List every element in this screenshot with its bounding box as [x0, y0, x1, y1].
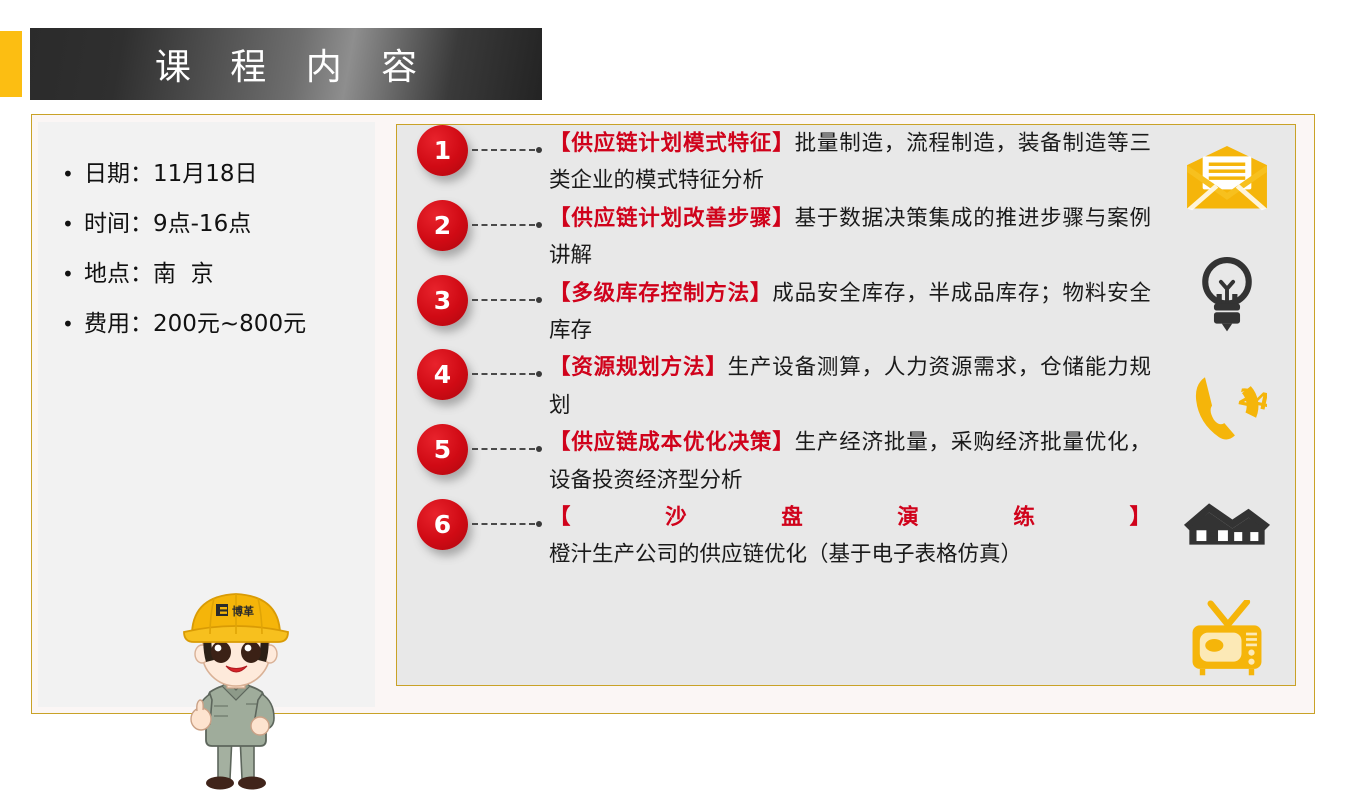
- outline-item-title: 【多级库存控制方法】: [549, 281, 772, 306]
- outline-item-body: 橙汁生产公司的供应链优化（基于电子表格仿真）: [549, 542, 1022, 567]
- outline-item-text: 【沙盘演练】橙汁生产公司的供应链优化（基于电子表格仿真）: [549, 499, 1157, 574]
- connector-line: [472, 148, 542, 152]
- outline-item: 2【供应链计划改善步骤】基于数据决策集成的推进步骤与案例讲解: [397, 200, 1157, 275]
- course-info-text: 费用：200元~800元: [84, 304, 306, 338]
- outline-item-number: 1: [417, 125, 468, 176]
- course-info-text: 地点：南 京: [84, 254, 214, 288]
- house-icon: [1181, 484, 1273, 564]
- lightbulb-icon: [1181, 254, 1273, 334]
- worker-mascot: 博革: [170, 574, 300, 799]
- bullet-icon: •: [62, 264, 84, 284]
- connector-line: [472, 223, 542, 227]
- course-info-text: 时间：9点-16点: [84, 204, 251, 238]
- connector-line: [472, 372, 542, 376]
- phone-24-icon: 24: [1181, 369, 1273, 449]
- connector-line: [472, 447, 542, 451]
- envelope-icon: [1181, 139, 1273, 219]
- course-info-text: 日期：11月18日: [84, 154, 258, 188]
- outline-item-number: 4: [417, 349, 468, 400]
- outline-item-text: 【多级库存控制方法】成品安全库存，半成品库存；物料安全库存: [549, 275, 1157, 350]
- outline-item-title: 【资源规划方法】: [549, 355, 728, 380]
- course-info-item: •日期：11月18日: [62, 154, 362, 188]
- outline-item-title: 【供应链成本优化决策】: [549, 430, 795, 455]
- outline-item-number: 6: [417, 499, 468, 550]
- icon-column: 24: [1167, 139, 1287, 679]
- outline-item: 4【资源规划方法】生产设备测算，人力资源需求，仓储能力规划: [397, 349, 1157, 424]
- course-info-item: •地点：南 京: [62, 254, 362, 288]
- bullet-icon: •: [62, 314, 84, 334]
- outline-item: 1【供应链计划模式特征】批量制造，流程制造，装备制造等三类企业的模式特征分析: [397, 125, 1157, 200]
- outline-item: 5【供应链成本优化决策】生产经济批量，采购经济批量优化，设备投资经济型分析: [397, 424, 1157, 499]
- header-title-bar: 课 程 内 容: [30, 28, 542, 100]
- header-accent-block: [0, 31, 22, 97]
- page-title: 课 程 内 容: [141, 38, 431, 90]
- course-info-list: •日期：11月18日•时间：9点-16点•地点：南 京•费用：200元~800元: [62, 154, 362, 354]
- outline-item-text: 【供应链计划改善步骤】基于数据决策集成的推进步骤与案例讲解: [549, 200, 1157, 275]
- outline-item-number: 3: [417, 275, 468, 326]
- svg-text:博革: 博革: [232, 604, 254, 618]
- outline-item-title: 【供应链计划改善步骤】: [549, 206, 795, 231]
- course-info-item: •时间：9点-16点: [62, 204, 362, 238]
- outline-item-number: 2: [417, 200, 468, 251]
- bullet-icon: •: [62, 164, 84, 184]
- outline-item-text: 【资源规划方法】生产设备测算，人力资源需求，仓储能力规划: [549, 349, 1157, 424]
- outline-item-text: 【供应链计划模式特征】批量制造，流程制造，装备制造等三类企业的模式特征分析: [549, 125, 1157, 200]
- course-info-item: •费用：200元~800元: [62, 304, 362, 338]
- outline-item-title: 【供应链计划模式特征】: [549, 131, 795, 156]
- connector-line: [472, 522, 542, 526]
- outline-item: 3【多级库存控制方法】成品安全库存，半成品库存；物料安全库存: [397, 275, 1157, 350]
- outline-item-list: 1【供应链计划模式特征】批量制造，流程制造，装备制造等三类企业的模式特征分析2【…: [397, 125, 1157, 574]
- svg-text:24: 24: [1235, 384, 1267, 416]
- outline-item: 6【沙盘演练】橙汁生产公司的供应链优化（基于电子表格仿真）: [397, 499, 1157, 574]
- outline-item-text: 【供应链成本优化决策】生产经济批量，采购经济批量优化，设备投资经济型分析: [549, 424, 1157, 499]
- outline-item-title: 【沙盘演练】: [549, 505, 1151, 530]
- course-info-panel: •日期：11月18日•时间：9点-16点•地点：南 京•费用：200元~800元: [38, 122, 375, 707]
- bullet-icon: •: [62, 214, 84, 234]
- tv-icon: [1181, 599, 1273, 679]
- connector-line: [472, 298, 542, 302]
- page-header: 课 程 内 容: [0, 28, 560, 100]
- course-outline-panel: 1【供应链计划模式特征】批量制造，流程制造，装备制造等三类企业的模式特征分析2【…: [396, 124, 1296, 686]
- outline-item-number: 5: [417, 424, 468, 475]
